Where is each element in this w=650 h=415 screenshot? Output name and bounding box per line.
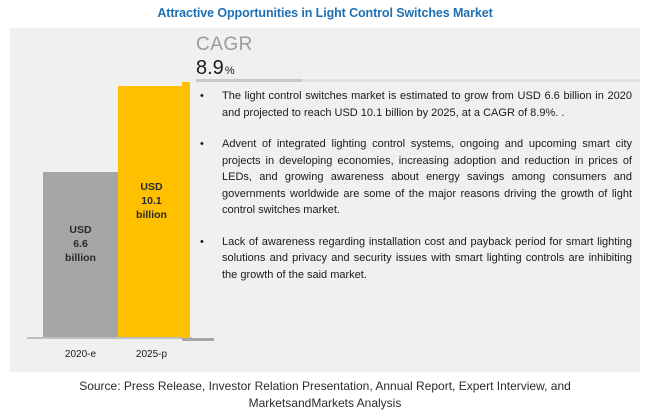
list-item: • Advent of integrated lighting control … xyxy=(196,136,640,219)
list-item: • The light control switches market is e… xyxy=(196,88,640,121)
cagr-annotation: CAGR 8.9 % xyxy=(196,34,253,82)
source-note: Source: Press Release, Investor Relation… xyxy=(0,378,650,412)
bullet-text: Advent of integrated lighting control sy… xyxy=(222,136,640,219)
page-title: Attractive Opportunities in Light Contro… xyxy=(0,6,650,20)
bullet-text: Lack of awareness regarding installation… xyxy=(222,234,640,284)
bullet-text: The light control switches market is est… xyxy=(222,88,640,121)
bar-2020-e: USD 6.6 billion xyxy=(43,172,118,337)
list-item: • Lack of awareness regarding installati… xyxy=(196,234,640,284)
divider-top-dark xyxy=(196,79,302,82)
bullet-dot-icon: • xyxy=(196,136,222,219)
x-tick-2025-p: 2025-p xyxy=(118,349,185,360)
cagr-label: CAGR xyxy=(196,34,253,56)
bar-2025-p-label: USD 10.1 billion xyxy=(136,180,167,222)
x-tick-2020-e: 2020-e xyxy=(43,349,118,360)
cagr-value: 8.9 xyxy=(196,57,224,79)
bullet-list: • The light control switches market is e… xyxy=(196,88,640,298)
bar-chart: USD 6.6 billion USD 10.1 billion 2020-e … xyxy=(10,28,182,372)
bullet-dot-icon: • xyxy=(196,88,222,121)
x-axis-line xyxy=(27,337,192,339)
bar-2025-p: USD 10.1 billion xyxy=(118,86,185,337)
bullet-dot-icon: • xyxy=(196,234,222,284)
divider-bottom xyxy=(182,338,214,341)
accent-bar-vertical xyxy=(182,82,190,338)
bar-2020-e-label: USD 6.6 billion xyxy=(65,223,96,265)
